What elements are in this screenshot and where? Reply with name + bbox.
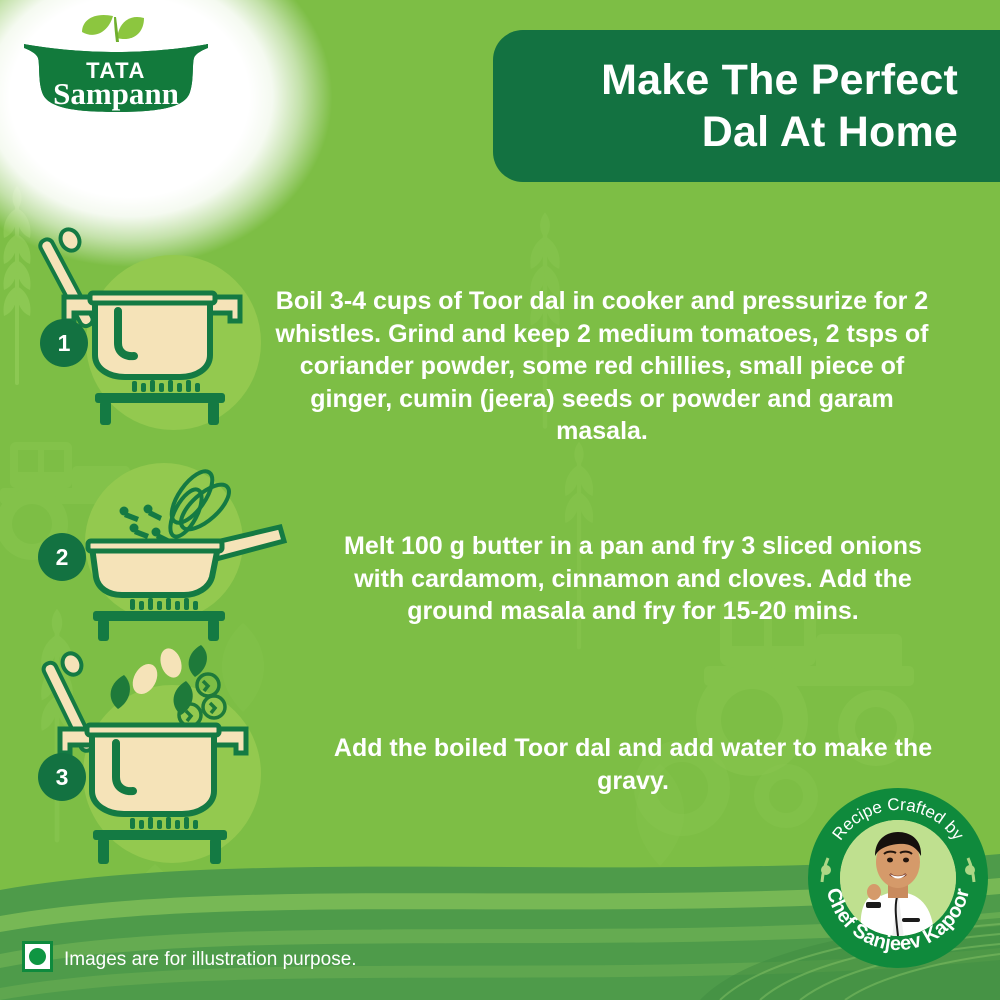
- disclaimer-text: Images are for illustration purpose.: [64, 949, 357, 971]
- chef-badge: Recipe Crafted by Chef Sanjeev Kapoor: [806, 786, 990, 970]
- step-number: 2: [56, 544, 69, 571]
- step-number: 1: [58, 330, 71, 357]
- flame-dots-icon: [130, 817, 198, 829]
- logo-sampann-text: Sampann: [53, 76, 179, 111]
- flame-dots-icon: [130, 598, 198, 610]
- onion-rings-icon: [164, 465, 236, 541]
- title-banner: Make The Perfect Dal At Home: [493, 30, 1000, 182]
- step-1-text: Boil 3-4 cups of Toor dal in cooker and …: [264, 285, 940, 448]
- recipe-poster: TATA Sampann Make The Perfect Dal At Hom…: [0, 0, 1000, 1000]
- leaf-icon: [82, 15, 144, 42]
- step-2-number-badge: 2: [38, 533, 86, 581]
- page-title: Make The Perfect Dal At Home: [601, 54, 958, 159]
- flame-dots-icon: [132, 380, 200, 392]
- step-3-number-badge: 3: [38, 753, 86, 801]
- cloves-icon: [120, 505, 171, 545]
- step-number: 3: [56, 764, 69, 791]
- step-2: 2 Melt 100 g butter in a pan and fry 3 s…: [0, 455, 1000, 645]
- step-1: 1 Boil 3-4 cups of Toor dal in cooker an…: [0, 225, 1000, 440]
- vegetarian-dot: [29, 948, 46, 965]
- step-1-number-badge: 1: [40, 319, 88, 367]
- vegetarian-mark: [22, 941, 53, 972]
- step-2-text: Melt 100 g butter in a pan and fry 3 sli…: [322, 530, 944, 628]
- tata-sampann-logo: TATA Sampann: [18, 8, 214, 120]
